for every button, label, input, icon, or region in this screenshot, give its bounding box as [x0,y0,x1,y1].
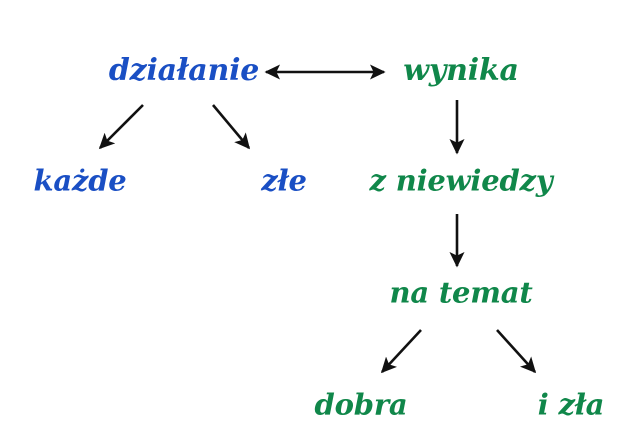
node-izla[interactable]: i zła [538,391,605,420]
diagram-canvas: działaniewynikakażdezłez niewiedzyna tem… [0,0,640,447]
node-wynika[interactable]: wynika [403,56,519,86]
edge-natemat-dobra [382,330,421,372]
edge-natemat-izla [497,330,535,372]
node-dzialanie[interactable]: działanie [109,56,259,86]
node-zle[interactable]: złe [261,167,306,196]
diagram-edges-layer [0,0,640,447]
node-dobra[interactable]: dobra [315,391,408,420]
edge-dzialanie-zle [213,105,249,148]
node-kazde[interactable]: każde [33,167,126,196]
node-natemat[interactable]: na temat [389,279,532,308]
edge-dzialanie-kazde [100,105,143,148]
node-zniewiedzy[interactable]: z niewiedzy [370,167,553,196]
